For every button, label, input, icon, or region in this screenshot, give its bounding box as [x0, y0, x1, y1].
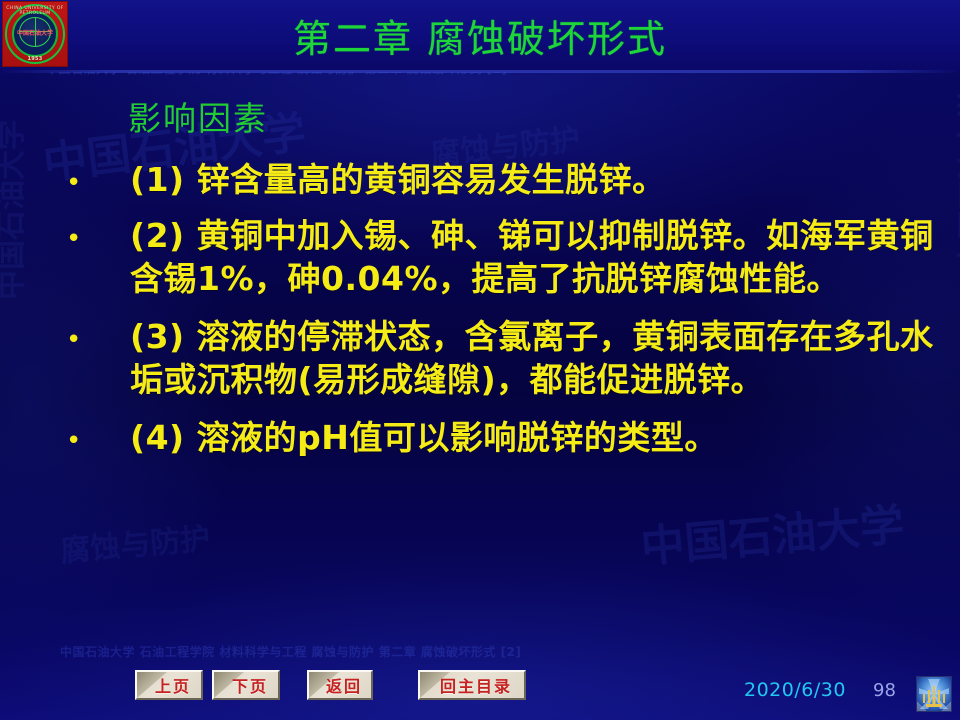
bullet-text: (4) 溶液的pH值可以影响脱锌的类型。 [130, 416, 946, 460]
section-subheading: 影响因素 [128, 92, 268, 140]
next-page-label: 下页 [214, 672, 278, 698]
list-item: • (2) 黄铜中加入锡、砷、锑可以抑制脱锌。如海军黄铜含锡1%，砷0.04%，… [66, 214, 946, 301]
watermark-bottom-band: 中国石油大学 石油工程学院 材料科学与工程 腐蚀与防护 第二章 腐蚀破坏形式 [… [60, 643, 521, 660]
watermark-big-right: 中国石油大学 [638, 489, 907, 576]
prev-page-label: 上页 [137, 672, 201, 698]
main-menu-label: 回主目录 [420, 672, 524, 698]
footer-page-number: 98 [873, 680, 896, 701]
main-menu-button[interactable]: 回主目录 [418, 670, 526, 700]
bullet-marker: • [66, 315, 130, 353]
page-title: 第二章 腐蚀破坏形式 [0, 8, 960, 63]
back-button[interactable]: 返回 [307, 670, 373, 700]
bullet-marker: • [66, 158, 130, 196]
header-divider [0, 70, 960, 73]
bullet-marker: • [66, 416, 130, 454]
prev-page-button[interactable]: 上页 [135, 670, 203, 700]
bullet-text: (1) 锌含量高的黄铜容易发生脱锌。 [130, 158, 946, 202]
watermark-mid-left: 腐蚀与防护 [58, 514, 211, 571]
watermark-side-left: 中国石油大学 [0, 120, 30, 300]
next-page-button[interactable]: 下页 [212, 670, 280, 700]
back-label: 返回 [309, 672, 371, 698]
list-item: • (1) 锌含量高的黄铜容易发生脱锌。 [66, 158, 946, 202]
menorah-emblem-icon [916, 676, 952, 712]
bullet-marker: • [66, 214, 130, 252]
bullet-text: (2) 黄铜中加入锡、砷、锑可以抑制脱锌。如海军黄铜含锡1%，砷0.04%，提高… [130, 214, 946, 301]
slide-root: 中国石油大学 腐蚀与防护 腐蚀与防护 中国石油大学 中国石油大学 中国石油大学 … [0, 0, 960, 720]
list-item: • (4) 溶液的pH值可以影响脱锌的类型。 [66, 416, 946, 460]
bullet-list: • (1) 锌含量高的黄铜容易发生脱锌。 • (2) 黄铜中加入锡、砷、锑可以抑… [66, 158, 946, 461]
slide-footer: 上页 下页 返回 回主目录 2020/6/30 98 [0, 662, 960, 720]
bullet-text: (3) 溶液的停滞状态，含氯离子，黄铜表面存在多孔水垢或沉积物(易形成缝隙)，都… [130, 315, 946, 402]
lamp-base [926, 704, 942, 707]
slide-header: CHINA UNIVERSITY OF PETROLEUM 中国石油大学 195… [0, 0, 960, 72]
list-item: • (3) 溶液的停滞状态，含氯离子，黄铜表面存在多孔水垢或沉积物(易形成缝隙)… [66, 315, 946, 402]
footer-date: 2020/6/30 [744, 679, 846, 701]
watermark-side-right: 中国石油大学 [948, 90, 960, 270]
